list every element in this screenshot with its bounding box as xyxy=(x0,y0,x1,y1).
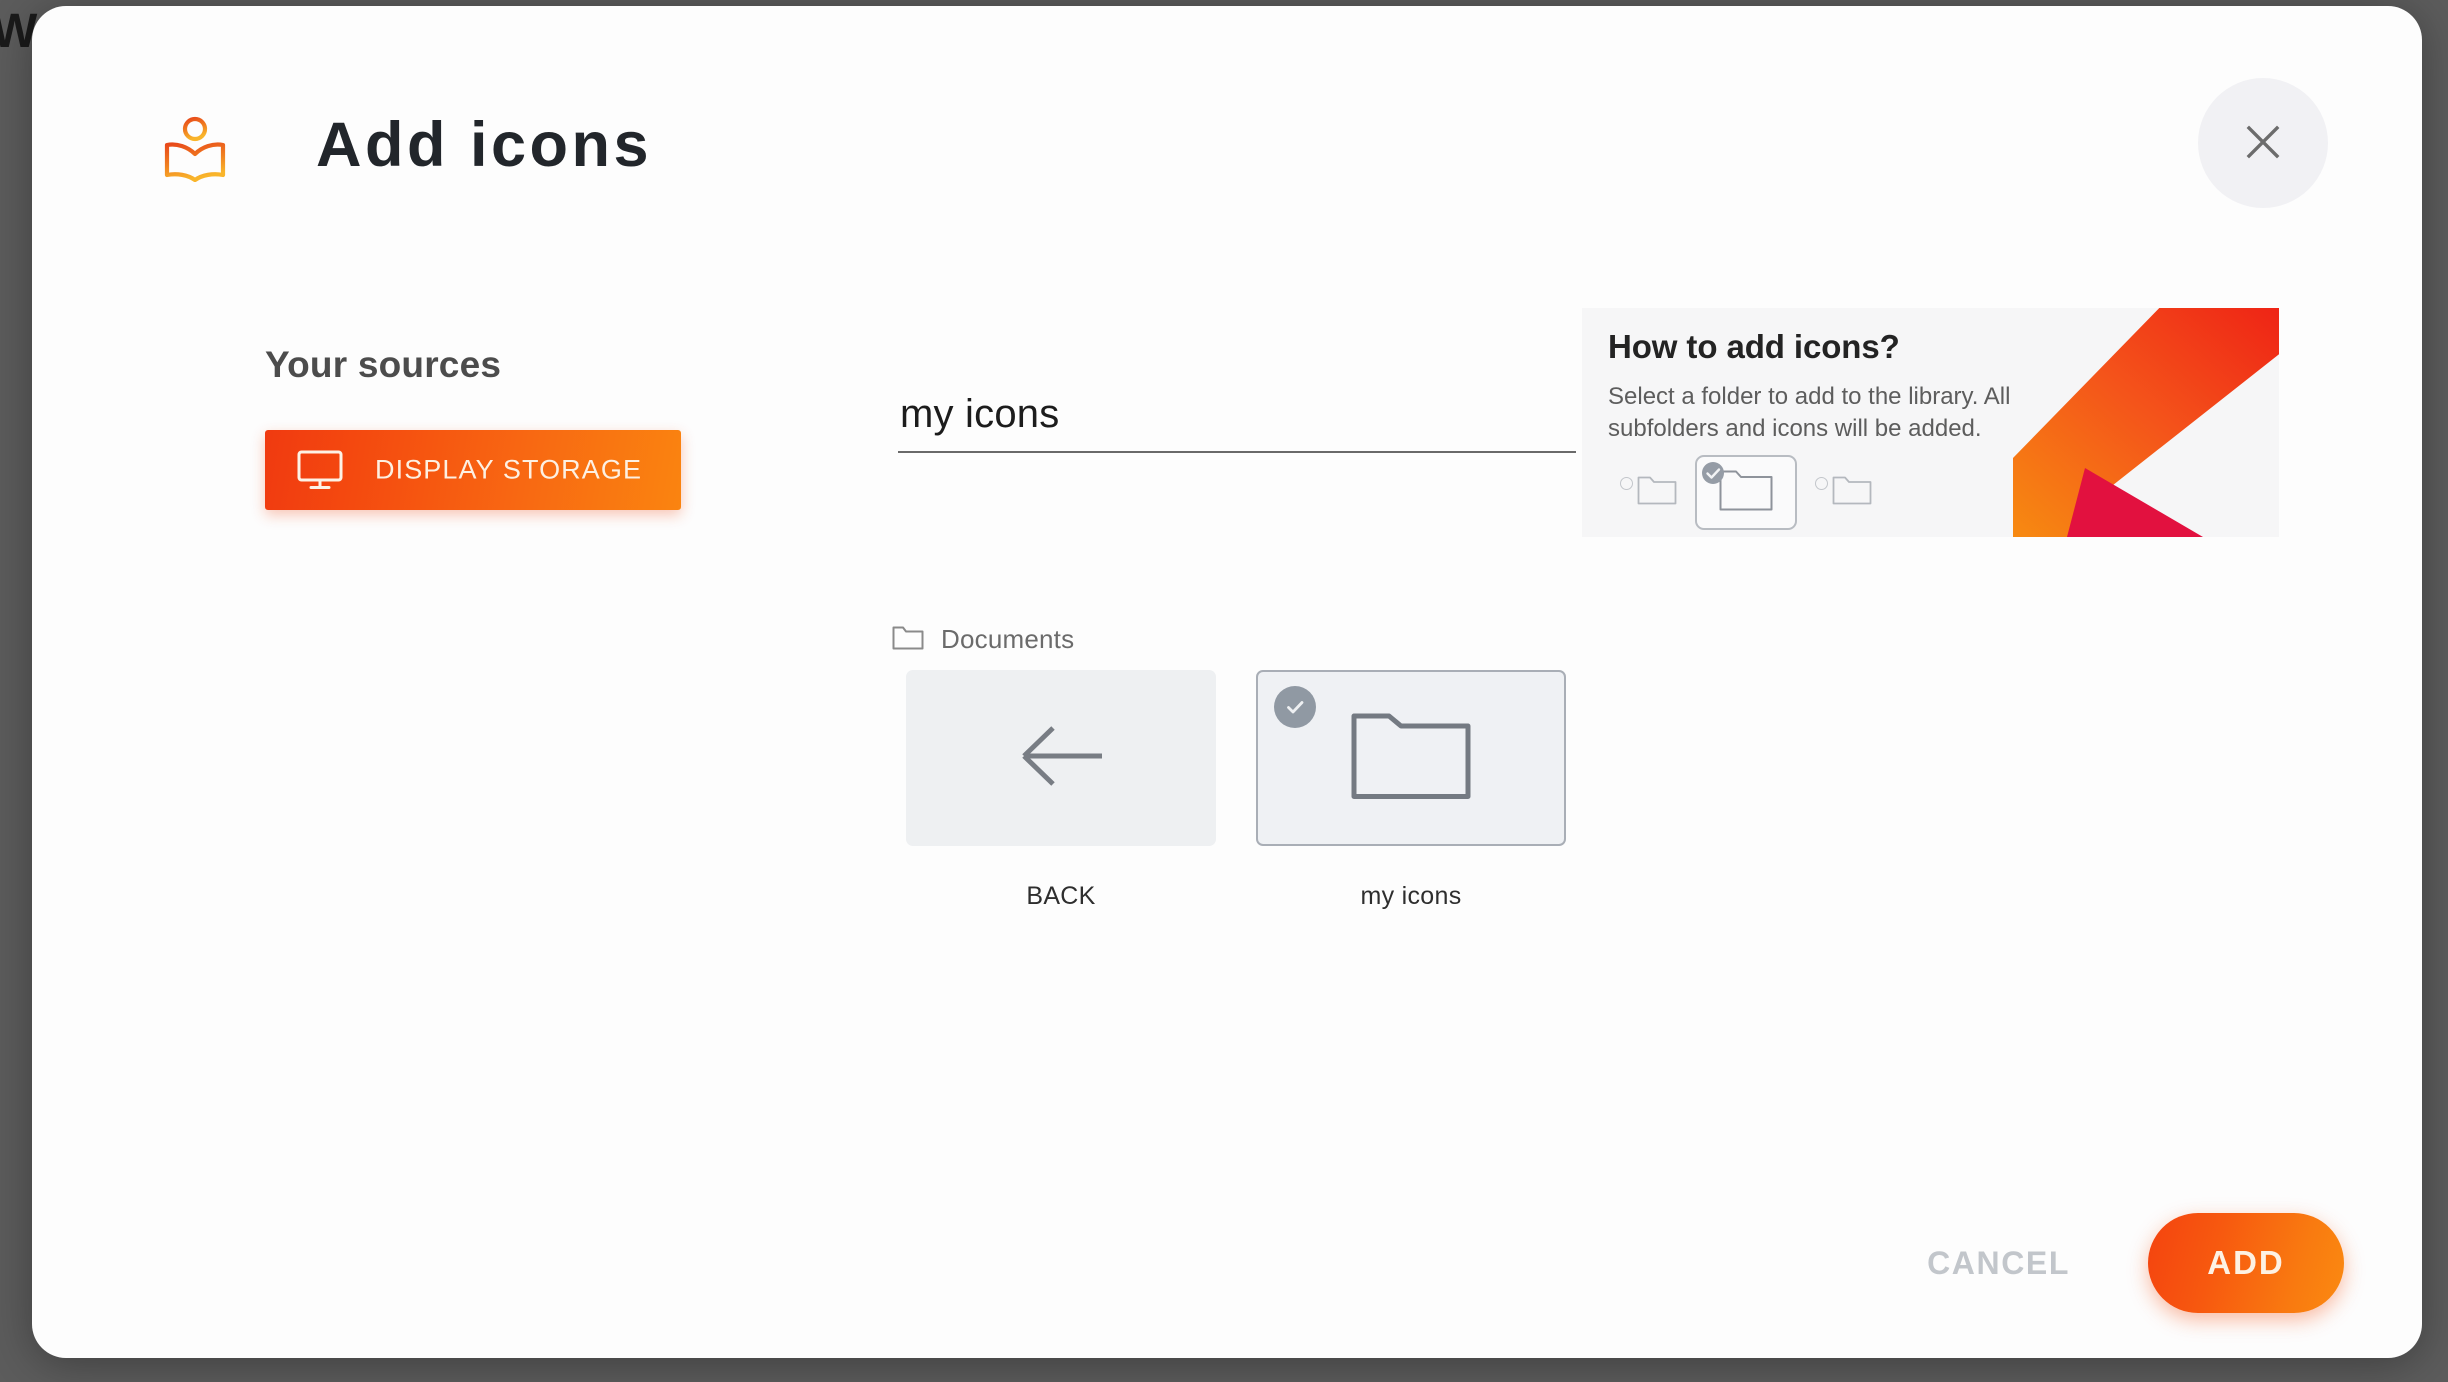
add-button[interactable]: ADD xyxy=(2148,1213,2344,1313)
breadcrumb-current-folder: Documents xyxy=(941,624,1074,655)
folder-entry-my-icons: my icons xyxy=(1256,670,1566,911)
add-icons-dialog: Add icons Your sources DISPLAY STORAGE xyxy=(32,6,2422,1358)
arrow-left-icon xyxy=(1016,720,1106,797)
breadcrumb[interactable]: Documents xyxy=(892,624,1074,655)
folder-entry-back: BACK xyxy=(906,670,1216,911)
check-icon xyxy=(1274,686,1316,728)
help-panel: How to add icons? Select a folder to add… xyxy=(1582,308,2279,537)
folder-caption: my icons xyxy=(1256,882,1566,911)
help-panel-title: How to add icons? xyxy=(1608,330,1900,363)
radio-empty-icon xyxy=(1815,477,1828,490)
help-thumb-unselected xyxy=(1612,469,1685,516)
folder-caption: BACK xyxy=(906,882,1216,911)
help-panel-thumbnails xyxy=(1612,455,1880,530)
page-title: Add icons xyxy=(316,114,652,177)
your-sources-heading: Your sources xyxy=(265,346,695,383)
close-icon xyxy=(2239,118,2287,169)
folder-browser-grid: BACK my icons xyxy=(906,670,1566,911)
folder-small-icon xyxy=(1637,475,1677,510)
help-thumb-selected xyxy=(1695,455,1797,530)
help-panel-description: Select a folder to add to the library. A… xyxy=(1608,381,2028,444)
folder-outline-icon xyxy=(1351,712,1471,805)
folder-small-icon xyxy=(1832,475,1872,510)
back-tile[interactable] xyxy=(906,670,1216,846)
library-name-field-wrapper xyxy=(898,392,1576,453)
check-icon xyxy=(1702,462,1724,484)
folder-outline-icon xyxy=(892,624,924,655)
your-sources-section: Your sources DISPLAY STORAGE xyxy=(265,346,695,510)
folder-small-icon xyxy=(1719,469,1773,516)
reading-person-logo-icon xyxy=(164,116,226,182)
dialog-footer: CANCEL ADD xyxy=(32,1168,2422,1358)
monitor-icon xyxy=(297,450,343,490)
cancel-button[interactable]: CANCEL xyxy=(1917,1231,2080,1296)
source-display-storage-button[interactable]: DISPLAY STORAGE xyxy=(265,430,681,510)
dialog-header: Add icons xyxy=(32,6,2422,236)
backdrop-peek-text: W xyxy=(0,8,36,56)
library-name-input[interactable] xyxy=(898,392,1576,453)
help-thumb-unselected xyxy=(1807,469,1880,516)
folder-tile-selected[interactable] xyxy=(1256,670,1566,846)
radio-empty-icon xyxy=(1620,477,1633,490)
source-display-storage-label: DISPLAY STORAGE xyxy=(375,455,642,486)
close-button[interactable] xyxy=(2198,78,2328,208)
